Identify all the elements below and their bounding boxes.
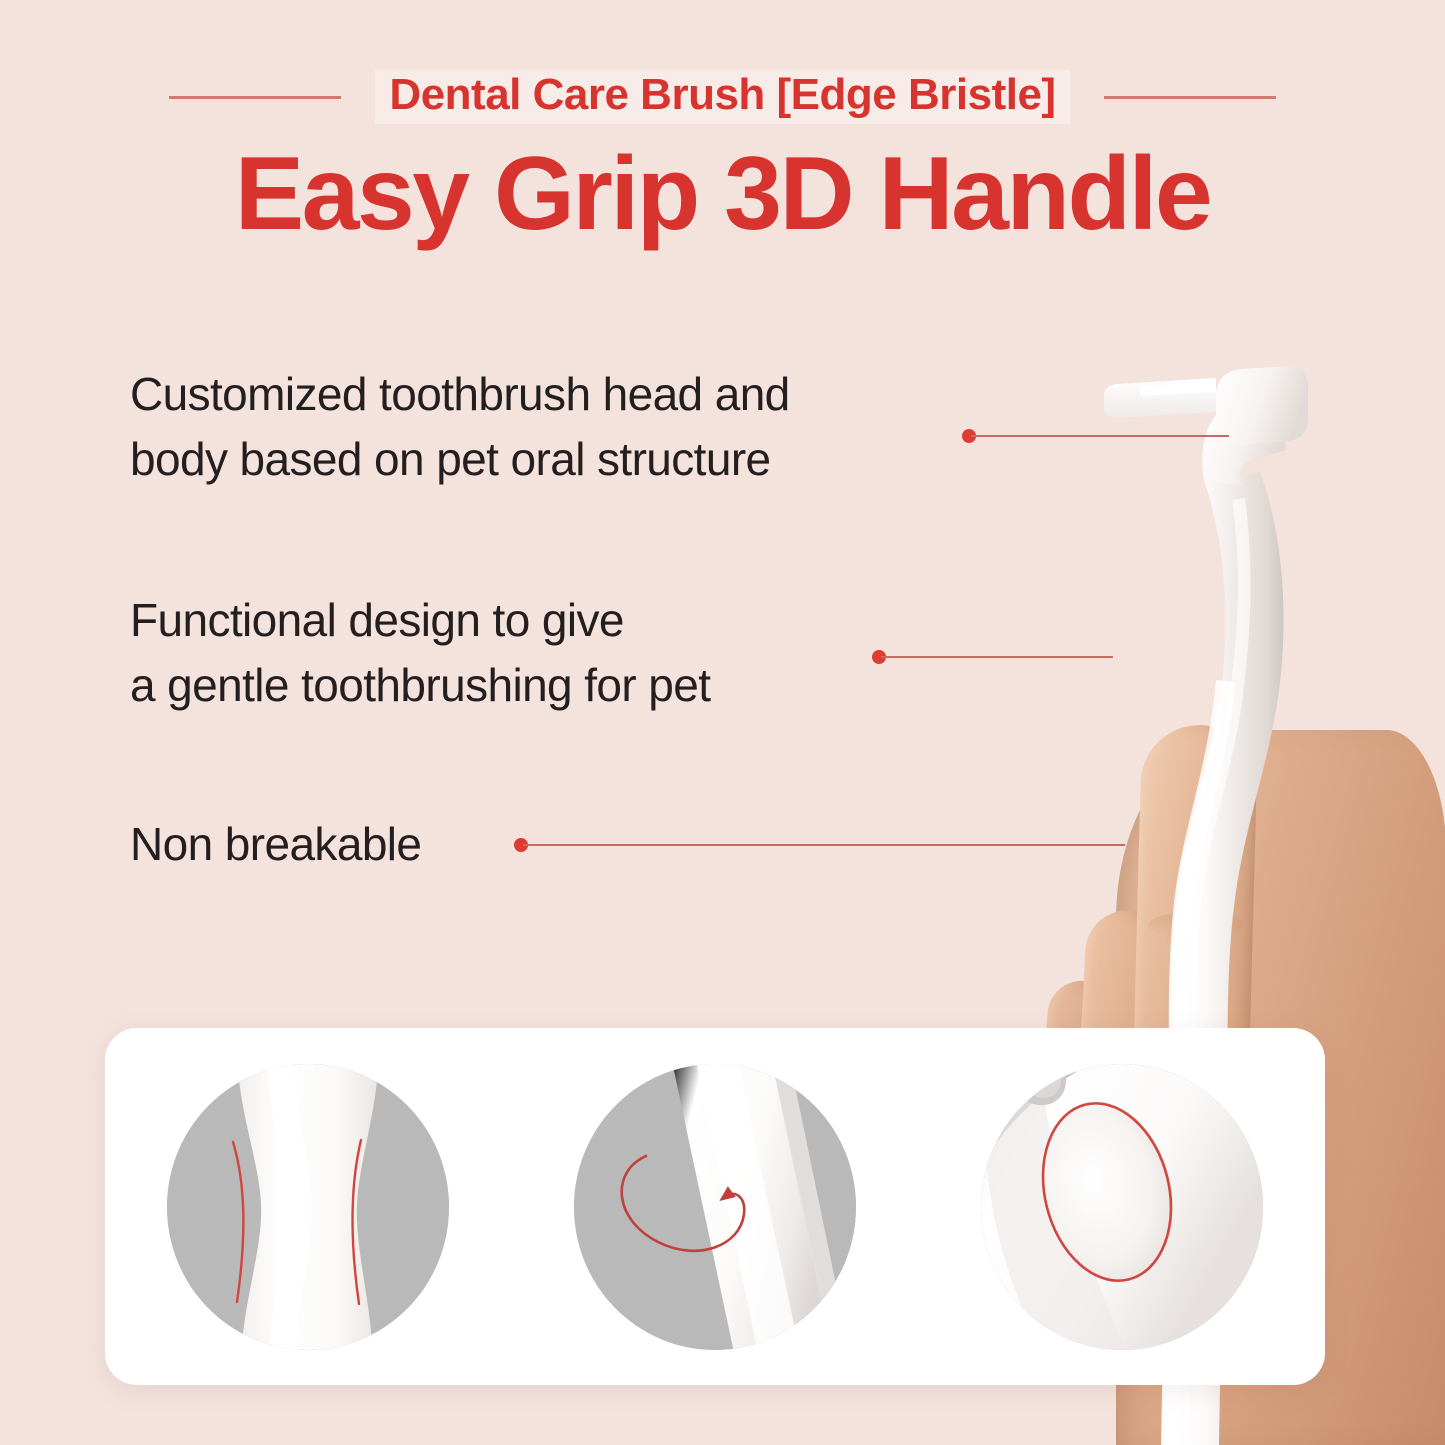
infographic-canvas: Dental Care Brush [Edge Bristle] Easy Gr… [0, 0, 1445, 1445]
leader-stroke-2 [881, 656, 1113, 658]
feature-item-3: Non breakable [130, 812, 421, 877]
eyebrow-text: Dental Care Brush [Edge Bristle] [375, 70, 1069, 124]
eyebrow-row: Dental Care Brush [Edge Bristle] [0, 66, 1445, 128]
leader-stroke-1 [971, 435, 1229, 437]
detail-circle-thumb-rest-dimple [981, 1064, 1263, 1350]
feature-item-2: Functional design to give a gentle tooth… [130, 588, 710, 719]
feature-2-line-1: Functional design to give [130, 588, 710, 653]
feature-1-line-1: Customized toothbrush head and [130, 362, 790, 427]
feature-2-line-2: a gentle toothbrushing for pet [130, 653, 710, 718]
feature-1-line-2: body based on pet oral structure [130, 427, 790, 492]
detail-circle-handle-grip-rotation [574, 1064, 856, 1350]
detail-card [105, 1028, 1325, 1385]
page-title: Easy Grip 3D Handle [0, 140, 1445, 249]
rule-left-icon [169, 96, 341, 99]
feature-item-1: Customized toothbrush head and body base… [130, 362, 790, 493]
leader-stroke-3 [523, 844, 1125, 846]
detail-circle-handle-waist-contour [167, 1064, 449, 1350]
rule-right-icon [1104, 96, 1276, 99]
feature-3-line-1: Non breakable [130, 812, 421, 877]
